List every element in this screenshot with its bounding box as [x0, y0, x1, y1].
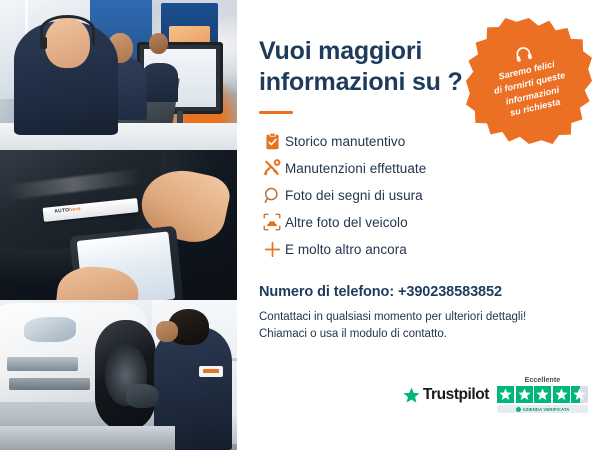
tools-icon — [259, 157, 285, 179]
feature-label: Altre foto del veicolo — [285, 215, 408, 230]
car-headlight — [24, 317, 76, 343]
callout-badge: Saremo felici di fornirti queste informa… — [466, 18, 592, 144]
rating-label: Eccellente — [497, 377, 588, 384]
verified-check-icon — [516, 407, 521, 412]
magnifier-icon — [259, 184, 285, 206]
feature-list: Storico manutentivo Manutenzioni effettu… — [259, 128, 582, 263]
headset-icon — [513, 45, 533, 63]
photo-column: AUTOhero — [0, 0, 237, 450]
agent-background-2-head — [149, 33, 168, 54]
feature-label: Manutenzioni effettuate — [285, 161, 426, 176]
star-filled-3 — [534, 386, 551, 403]
star-filled-2 — [516, 386, 533, 403]
trustpilot-rating: Eccellente — [497, 377, 588, 413]
verified-badge: AZIENDA VERIFICATA — [497, 405, 588, 413]
list-item: E molto altro ancora — [259, 236, 582, 263]
phone-line: Numero di telefono: +390238583852 — [259, 284, 582, 300]
list-item: Manutenzioni effettuate — [259, 155, 582, 182]
content-panel: Saremo felici di fornirti queste informa… — [237, 0, 600, 450]
photo-hands-applying-label-to-car-with-tablet: AUTOhero — [0, 150, 237, 300]
feature-label: E molto altro ancora — [285, 242, 407, 257]
contact-block: Numero di telefono: +390238583852 Contat… — [259, 284, 582, 344]
verified-text: AZIENDA VERIFICATA — [523, 407, 570, 412]
trustpilot-logo: Trustpilot — [403, 386, 489, 404]
headline-line-2: informazioni su ? — [259, 67, 469, 98]
contact-text-line-1: Contattaci in qualsiasi momento per ulte… — [259, 309, 582, 326]
promo-card: AUTOhero — [0, 0, 600, 450]
vehicle-lift-platform — [0, 426, 175, 450]
contact-text-line-2: Chiamaci o usa il modulo di contatto. — [259, 326, 582, 343]
star-filled-1 — [497, 386, 514, 403]
phone-number[interactable]: +390238583852 — [398, 284, 502, 300]
feature-label: Foto dei segni di usura — [285, 188, 423, 203]
star-filled-4 — [553, 386, 570, 403]
auto-brand-label-text: AUTOhero — [54, 206, 81, 215]
contact-description: Contattaci in qualsiasi momento per ulte… — [259, 309, 582, 344]
headset-icon — [40, 15, 95, 45]
photo-mechanic-servicing-white-car-wheel — [0, 300, 237, 450]
list-item: Foto dei segni di usura — [259, 182, 582, 209]
phone-label: Numero di telefono: — [259, 284, 394, 300]
plus-icon — [259, 238, 285, 260]
agent-background-2 — [142, 63, 178, 102]
mechanic-glove — [126, 384, 159, 408]
car-grille — [7, 357, 78, 371]
clipboard-check-icon — [259, 130, 285, 152]
star-rating — [497, 386, 588, 403]
mechanic-face — [156, 321, 177, 342]
headline-line-1: Vuoi maggiori — [259, 36, 469, 67]
photo-call-center-agents-with-headsets — [0, 0, 237, 150]
uniform-logo-badge — [199, 366, 223, 377]
car-wheel — [95, 320, 157, 431]
car-focus-frame-icon — [259, 211, 285, 233]
trustpilot-wordmark: Trustpilot — [423, 386, 489, 404]
car-lower-grille — [9, 378, 90, 390]
trustpilot-widget[interactable]: Trustpilot Eccellente — [403, 377, 588, 413]
star-half-5 — [571, 386, 588, 403]
page-title: Vuoi maggiori informazioni su ? — [259, 36, 469, 99]
feature-label: Storico manutentivo — [285, 134, 405, 149]
trustpilot-star-icon — [403, 387, 420, 404]
list-item: Altre foto del veicolo — [259, 209, 582, 236]
title-divider — [259, 111, 293, 114]
